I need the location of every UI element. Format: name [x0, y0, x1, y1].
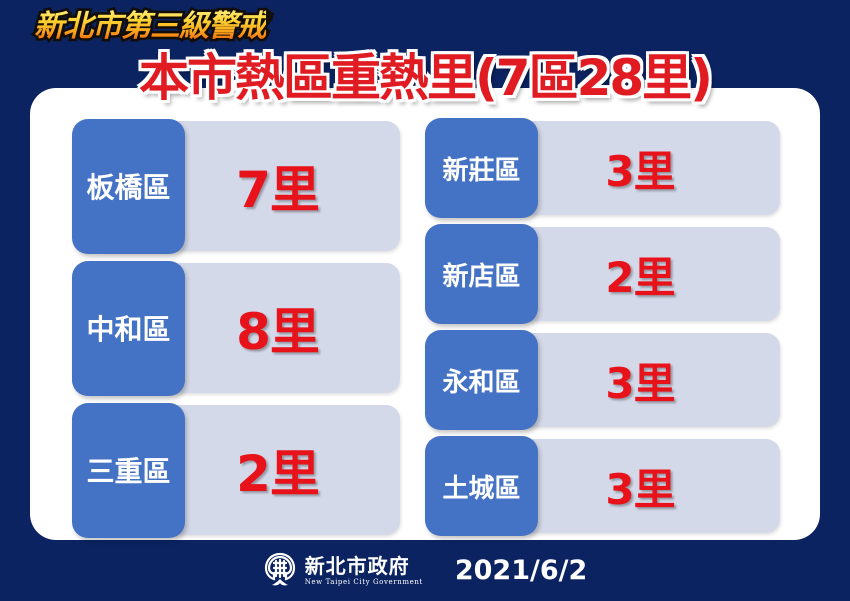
publish-date: 2021/6/2 — [455, 555, 587, 586]
district-count: 3里 — [538, 456, 780, 517]
page-title: 本市熱區重熱里(7區28里) — [0, 48, 850, 108]
district-row[interactable]: 永和區 3里 — [425, 327, 780, 433]
district-count: 3里 — [538, 350, 780, 411]
district-row[interactable]: 中和區 8里 — [72, 257, 400, 399]
district-row[interactable]: 新莊區 3里 — [425, 115, 780, 221]
district-count: 8里 — [185, 292, 400, 364]
district-count: 2里 — [538, 244, 780, 305]
district-list-left: 板橋區 7里 中和區 8里 三重區 2里 — [72, 115, 400, 541]
alert-level-banner: 新北市第三級警戒 新北市第三級警戒 — [34, 8, 266, 46]
district-row[interactable]: 三重區 2里 — [72, 399, 400, 541]
district-name-box[interactable]: 永和區 — [425, 330, 538, 430]
district-row[interactable]: 新店區 2里 — [425, 221, 780, 327]
government-name-chinese: 新北市政府 — [305, 556, 423, 576]
government-name-block: 新北市政府 New Taipei City Government — [305, 556, 423, 586]
page-title-text: 本市熱區重熱里(7區28里) — [139, 48, 711, 108]
district-name-box[interactable]: 土城區 — [425, 436, 538, 536]
government-branding: 新北市政府 New Taipei City Government — [263, 552, 423, 590]
footer-bar: 新北市政府 New Taipei City Government 2021/6/… — [0, 540, 850, 601]
district-row[interactable]: 土城區 3里 — [425, 433, 780, 539]
district-name-box[interactable]: 中和區 — [72, 261, 185, 396]
district-count: 7里 — [185, 150, 400, 222]
district-name-box[interactable]: 三重區 — [72, 403, 185, 538]
district-count: 2里 — [185, 434, 400, 506]
district-name-box[interactable]: 板橋區 — [72, 119, 185, 254]
district-list-right: 新莊區 3里 新店區 2里 永和區 3里 土城區 3里 — [425, 115, 780, 539]
new-taipei-city-emblem-icon — [263, 552, 297, 590]
district-row[interactable]: 板橋區 7里 — [72, 115, 400, 257]
district-name-box[interactable]: 新店區 — [425, 224, 538, 324]
poster-canvas: 新北市第三級警戒 新北市第三級警戒 本市熱區重熱里(7區28里) 板橋區 7里 … — [0, 0, 850, 601]
district-count: 3里 — [538, 138, 780, 199]
government-name-english: New Taipei City Government — [305, 579, 423, 586]
alert-level-banner-text: 新北市第三級警戒 — [34, 8, 266, 46]
district-name-box[interactable]: 新莊區 — [425, 118, 538, 218]
